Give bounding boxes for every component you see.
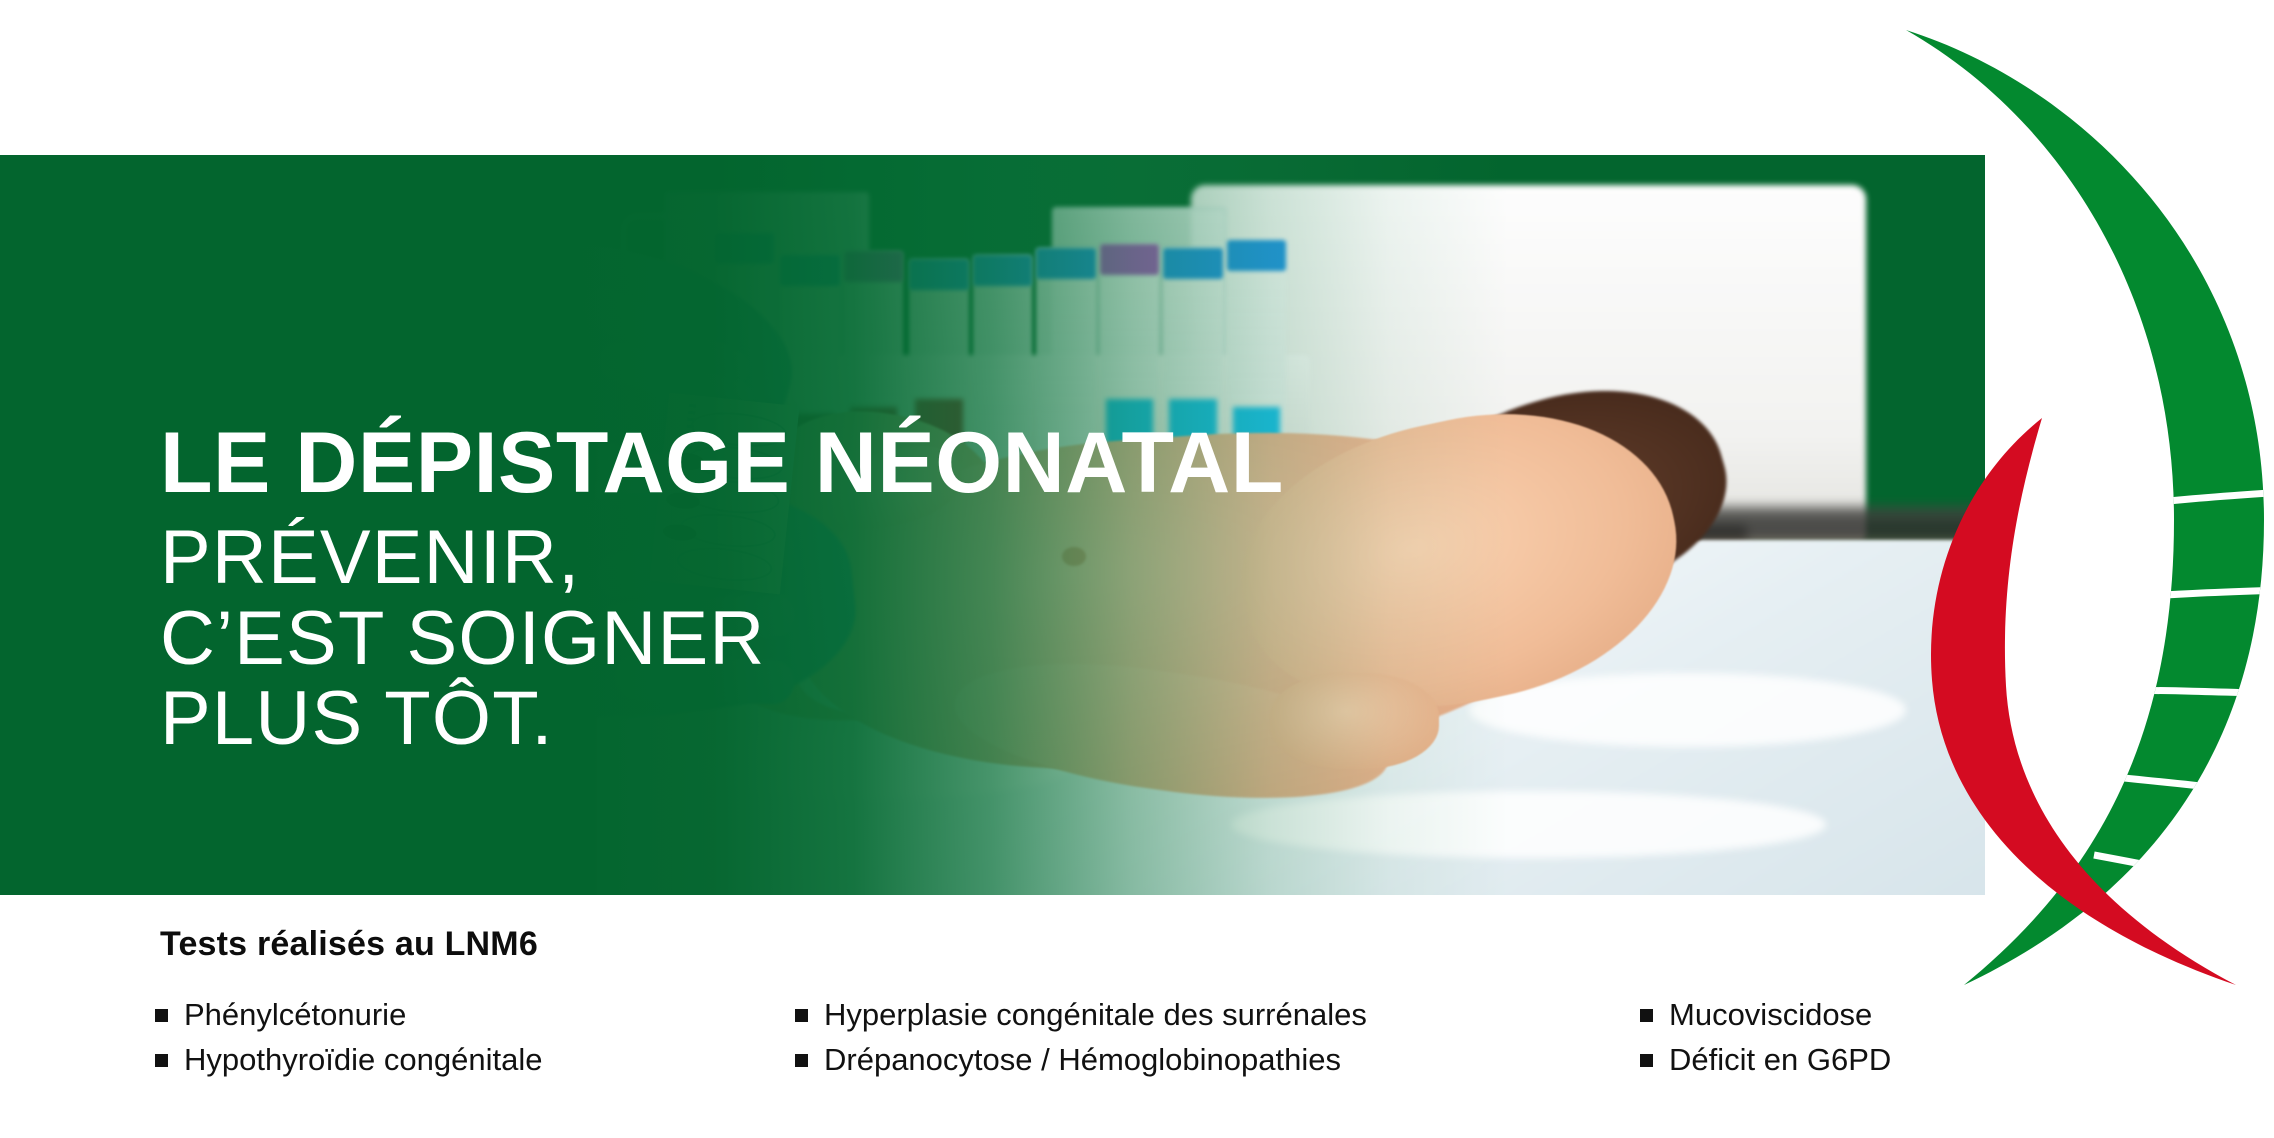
bullet-icon — [795, 1009, 808, 1022]
test-list-item: Mucoviscidose — [1640, 995, 1891, 1036]
bullet-icon — [155, 1054, 168, 1067]
bullet-icon — [795, 1054, 808, 1067]
headline-light: PRÉVENIR, C’EST SOIGNER PLUS TÔT. — [160, 518, 1284, 760]
test-label: Hyperplasie congénitale des surrénales — [824, 995, 1367, 1036]
bullet-icon — [155, 1009, 168, 1022]
test-list-item: Drépanocytose / Hémoglobinopathies — [795, 1040, 1367, 1081]
test-list-item: Phénylcétonurie — [155, 995, 542, 1036]
test-label: Drépanocytose / Hémoglobinopathies — [824, 1040, 1341, 1081]
headline-bold: LE DÉPISTAGE NÉONATAL — [160, 420, 1284, 506]
headline-line-2: C’EST SOIGNER — [160, 599, 1284, 680]
radiating-lines — [2094, 492, 2274, 894]
headline-line-3: PLUS TÔT. — [160, 679, 1284, 760]
tests-column-1: Phénylcétonurie Hypothyroïdie congénital… — [155, 995, 542, 1085]
tests-section-title: Tests réalisés au LNM6 — [160, 925, 538, 964]
headline-line-1: PRÉVENIR, — [160, 518, 1284, 599]
tests-column-3: Mucoviscidose Déficit en G6PD — [1640, 995, 1891, 1085]
test-label: Mucoviscidose — [1669, 995, 1872, 1036]
test-label: Phénylcétonurie — [184, 995, 406, 1036]
test-list-item: Hyperplasie congénitale des surrénales — [795, 995, 1367, 1036]
test-list-item: Hypothyroïdie congénitale — [155, 1040, 542, 1081]
test-label: Déficit en G6PD — [1669, 1040, 1891, 1081]
tests-info-strip: Tests réalisés au LNM6 Phénylcétonurie H… — [0, 895, 2274, 1138]
bullet-icon — [1640, 1054, 1653, 1067]
hero-headline: LE DÉPISTAGE NÉONATAL PRÉVENIR, C’EST SO… — [160, 420, 1284, 760]
bullet-icon — [1640, 1009, 1653, 1022]
test-label: Hypothyroïdie congénitale — [184, 1040, 542, 1081]
poster-page: LE DÉPISTAGE NÉONATAL PRÉVENIR, C’EST SO… — [0, 0, 2274, 1138]
tests-column-2: Hyperplasie congénitale des surrénales D… — [795, 995, 1367, 1085]
test-list-item: Déficit en G6PD — [1640, 1040, 1891, 1081]
hero-banner: LE DÉPISTAGE NÉONATAL PRÉVENIR, C’EST SO… — [0, 155, 1985, 895]
